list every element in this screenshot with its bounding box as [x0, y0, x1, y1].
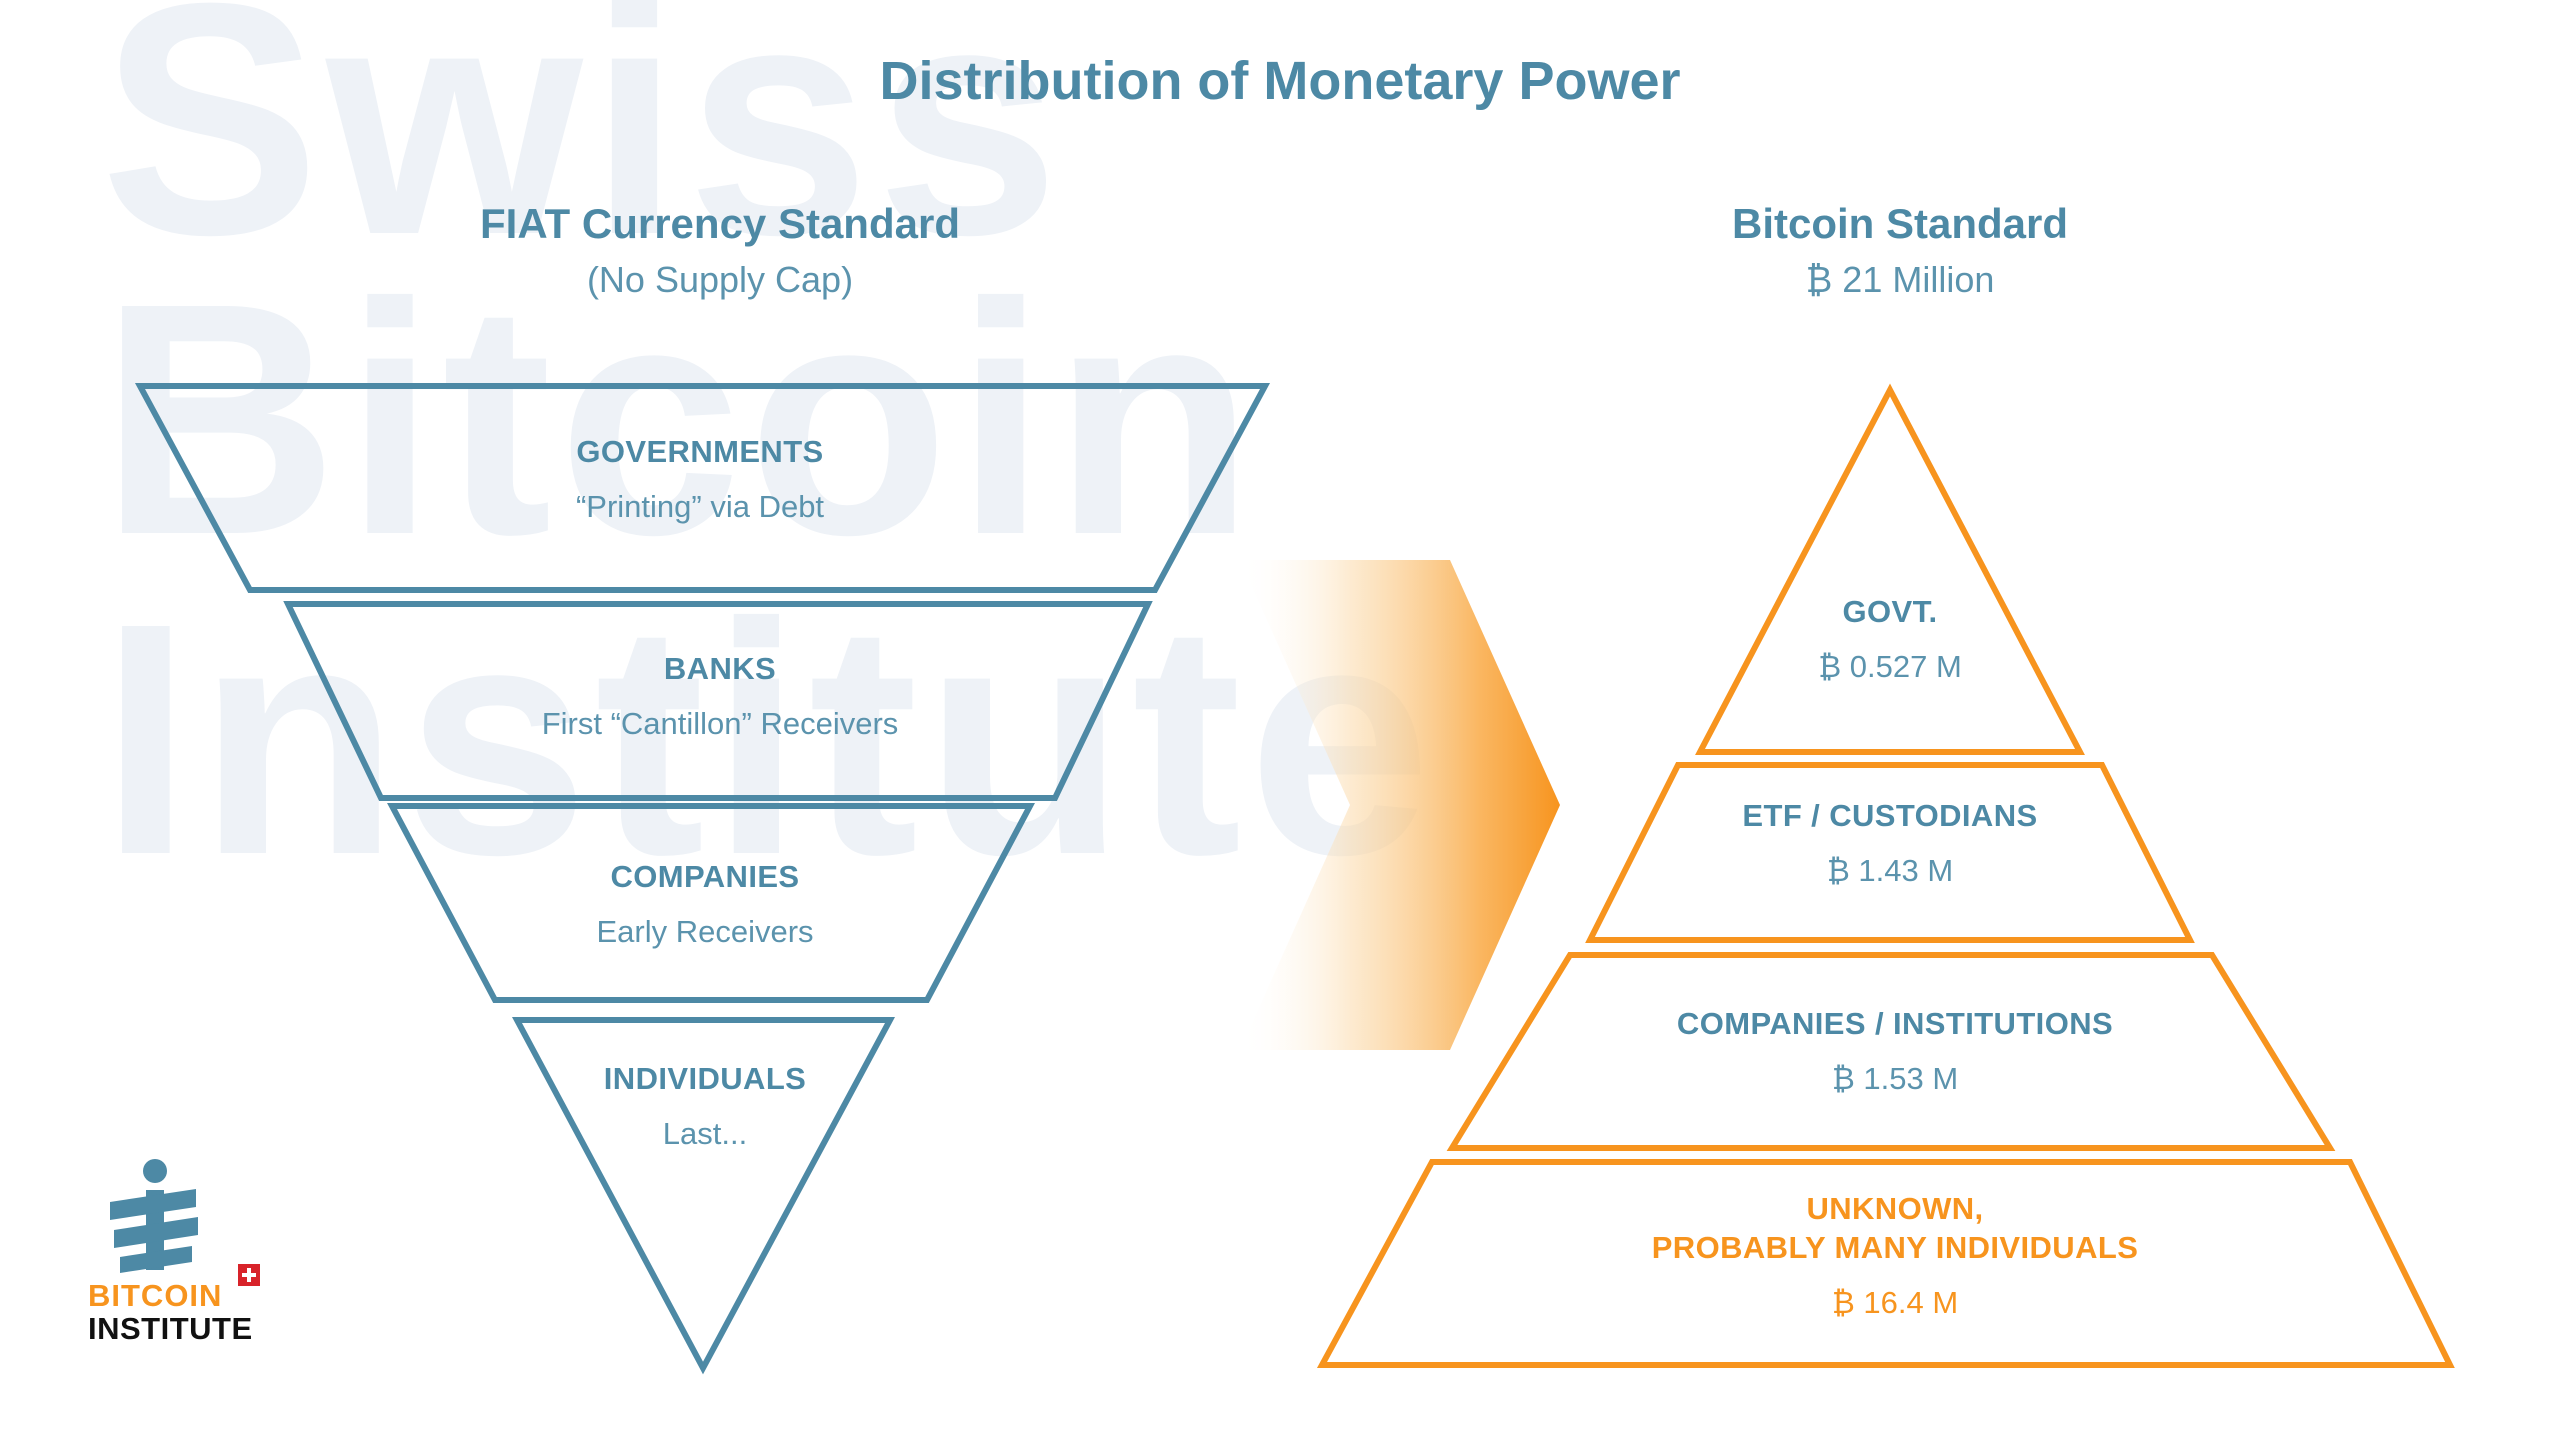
bitcoin-institute-mark-icon [100, 1158, 210, 1276]
bitcoin-pyramid-level-unknown[interactable] [1322, 1162, 2450, 1365]
bitcoin-pyramid-level-govt[interactable] [1700, 390, 2080, 752]
fiat-funnel [140, 386, 1265, 1368]
right-column-heading: Bitcoin Standard [1330, 200, 2470, 248]
left-column-subheading: (No Supply Cap) [140, 256, 1300, 305]
bitcoin-pyramid-level-etf-custodians[interactable] [1590, 765, 2190, 940]
right-column-header: Bitcoin Standard ₿ 21 Million [1330, 200, 2470, 305]
page-title: Distribution of Monetary Power [0, 50, 2560, 112]
logo-brand-top: BITCOIN [88, 1280, 308, 1313]
transition-arrow-icon [1240, 560, 1560, 1050]
fiat-funnel-level-governments[interactable] [140, 386, 1265, 590]
right-column-subheading: ₿ 21 Million [1330, 256, 2470, 305]
fiat-funnel-level-individuals[interactable] [517, 1020, 890, 1368]
bitcoin-pyramid-level-companies-institutions[interactable] [1452, 955, 2330, 1148]
bitcoin-institute-logo[interactable]: BITCOIN INSTITUTE [88, 1158, 308, 1345]
infographic-canvas: Swiss Bitcoin Institute Distribution of … [0, 0, 2560, 1440]
swiss-cross-icon [238, 1264, 260, 1286]
fiat-funnel-level-banks[interactable] [288, 604, 1148, 798]
logo-brand-bottom: INSTITUTE [88, 1313, 308, 1346]
left-column-heading: FIAT Currency Standard [140, 200, 1300, 248]
logo-wordmark: BITCOIN INSTITUTE [88, 1280, 308, 1345]
left-column-header: FIAT Currency Standard (No Supply Cap) [140, 200, 1300, 305]
fiat-funnel-level-companies[interactable] [392, 806, 1030, 1000]
